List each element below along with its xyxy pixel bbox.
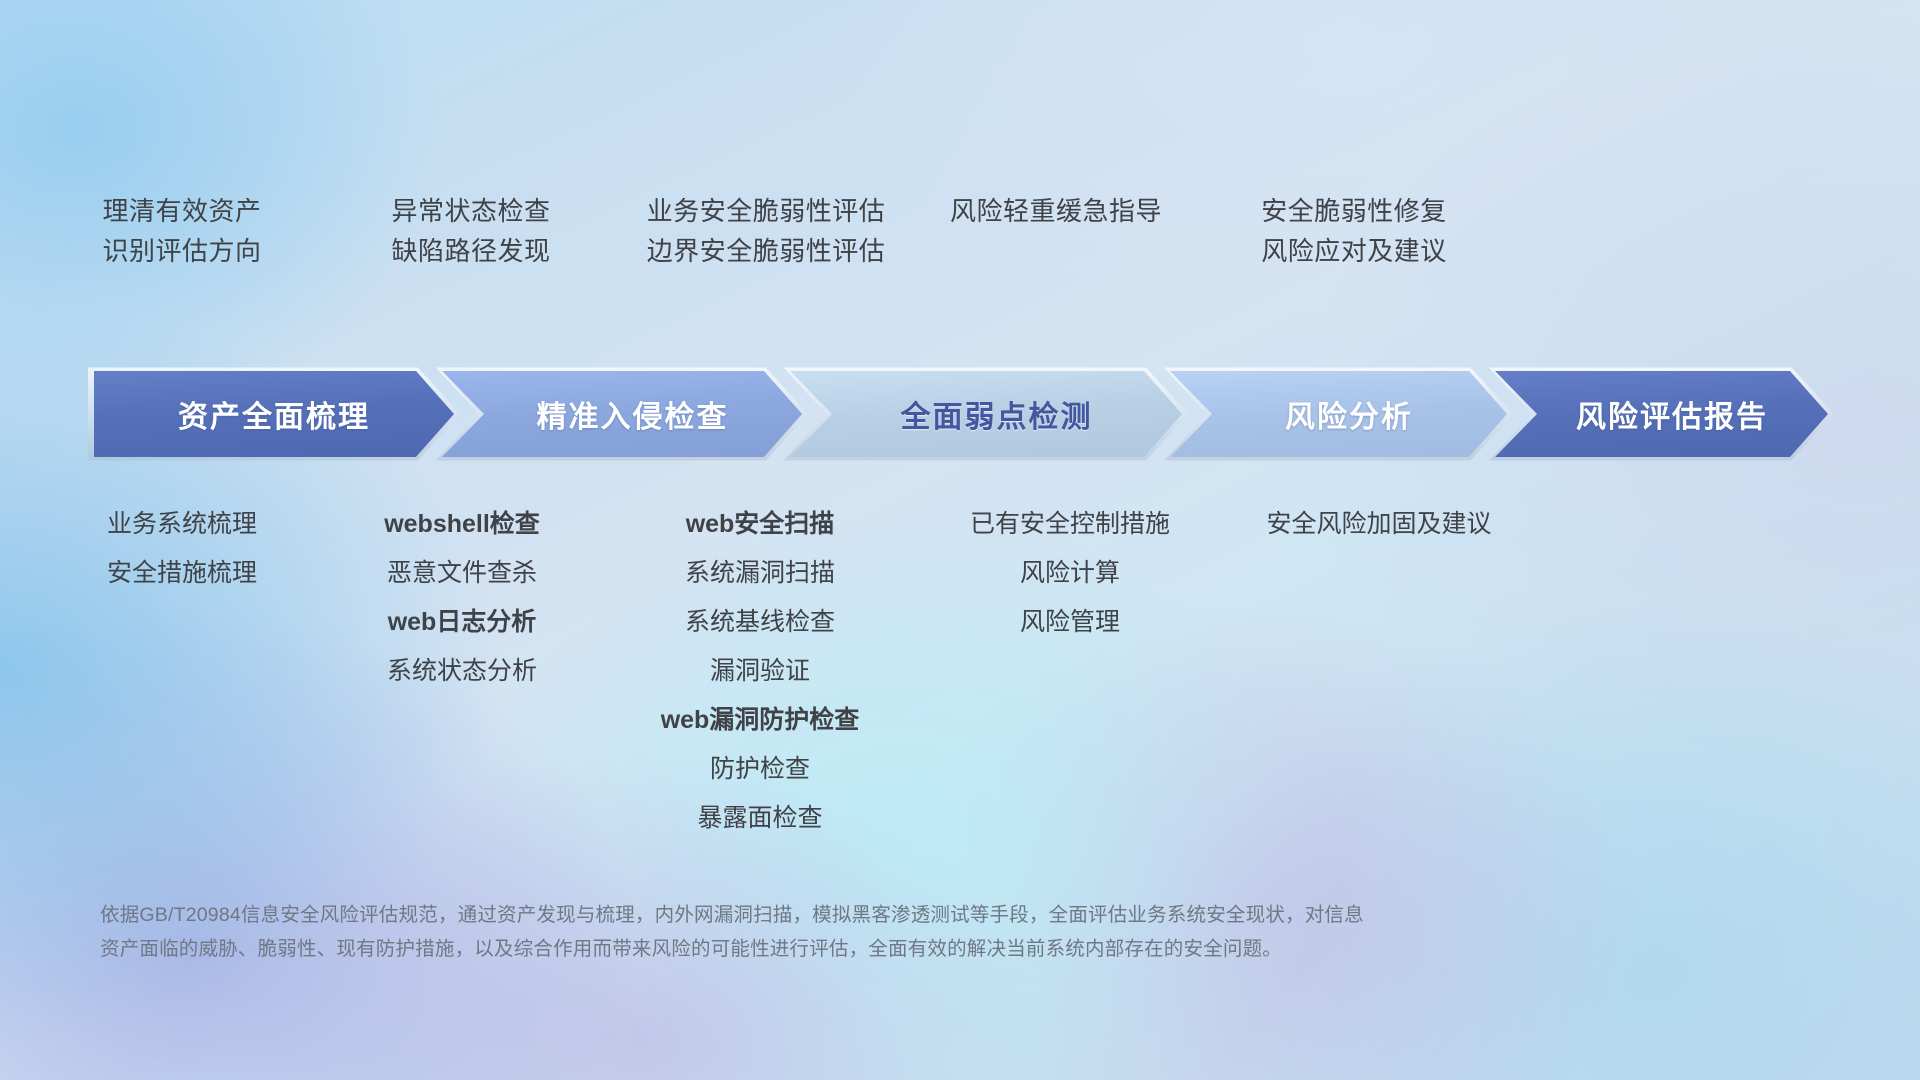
stage-chevron-asset-inventory[interactable]: 资产全面梳理 xyxy=(90,368,458,460)
stage-chevron-risk-report[interactable]: 风险评估报告 xyxy=(1491,368,1832,460)
stage-detail-list-risk-analysis: 已有安全控制措施风险计算风险管理 xyxy=(970,500,1170,647)
stage-detail-list-intrusion-check: webshell检查恶意文件查杀web日志分析系统状态分析 xyxy=(384,500,540,696)
stage-top-item: 风险轻重缓急指导 xyxy=(950,186,1162,236)
stage-detail-item: 恶意文件查杀 xyxy=(384,549,540,598)
stage-detail-item: web安全扫描 xyxy=(661,500,860,549)
stage-title-risk-report: 风险评估报告 xyxy=(1576,392,1768,436)
footer-line-1: 依据GB/T20984信息安全风险评估规范，通过资产发现与梳理，内外网漏洞扫描，… xyxy=(100,898,1660,932)
stage-top-item: 边界安全脆弱性评估 xyxy=(647,226,886,276)
stage-detail-item: 安全措施梳理 xyxy=(107,549,257,598)
stage-chevron-risk-analysis[interactable]: 风险分析 xyxy=(1166,368,1511,460)
stage-detail-item: 系统状态分析 xyxy=(384,647,540,696)
stage-detail-item: 业务系统梳理 xyxy=(107,500,257,549)
stage-detail-item: web漏洞防护检查 xyxy=(661,696,860,745)
footer-line-2: 资产面临的威胁、脆弱性、现有防护措施，以及综合作用而带来风险的可能性进行评估，全… xyxy=(100,932,1660,966)
stage-top-item: 识别评估方向 xyxy=(102,226,261,276)
stage-detail-item: webshell检查 xyxy=(384,500,540,549)
stage-detail-item: 防护检查 xyxy=(661,745,860,794)
stage-detail-item: 安全风险加固及建议 xyxy=(1266,500,1491,549)
stage-detail-item: 风险管理 xyxy=(970,598,1170,647)
stage-detail-item: 系统漏洞扫描 xyxy=(661,549,860,598)
stage-detail-item: 漏洞验证 xyxy=(661,647,860,696)
stage-detail-item: 风险计算 xyxy=(970,549,1170,598)
stage-detail-list-risk-report: 安全风险加固及建议 xyxy=(1266,500,1491,549)
stage-chevron-weakness-detection[interactable]: 全面弱点检测 xyxy=(786,368,1186,460)
process-diagram: 理清有效资产异常状态检查业务安全脆弱性评估风险轻重缓急指导安全脆弱性修复 识别评… xyxy=(0,0,1920,1080)
stage-chevron-intrusion-check[interactable]: 精准入侵检查 xyxy=(438,368,806,460)
stage-detail-item: 暴露面检查 xyxy=(661,794,860,843)
stage-title-asset-inventory: 资产全面梳理 xyxy=(178,392,370,436)
footer-description: 依据GB/T20984信息安全风险评估规范，通过资产发现与梳理，内外网漏洞扫描，… xyxy=(100,898,1660,966)
stage-top-item: 风险应对及建议 xyxy=(1261,226,1447,276)
stage-detail-item: 已有安全控制措施 xyxy=(970,500,1170,549)
stage-top-item: 缺陷路径发现 xyxy=(391,226,550,276)
stage-detail-list-weakness-detection: web安全扫描系统漏洞扫描系统基线检查漏洞验证web漏洞防护检查防护检查暴露面检… xyxy=(661,500,860,843)
stage-title-risk-analysis: 风险分析 xyxy=(1285,392,1413,436)
stage-detail-item: web日志分析 xyxy=(384,598,540,647)
stage-title-intrusion-check: 精准入侵检查 xyxy=(537,392,729,436)
stage-chevron-band: 风险评估报告风险分析全面弱点检测精准入侵检查资产全面梳理 xyxy=(90,368,1832,460)
stage-title-weakness-detection: 全面弱点检测 xyxy=(901,392,1093,436)
stage-detail-list-asset-inventory: 业务系统梳理安全措施梳理 xyxy=(107,500,257,598)
stage-detail-item: 系统基线检查 xyxy=(661,598,860,647)
